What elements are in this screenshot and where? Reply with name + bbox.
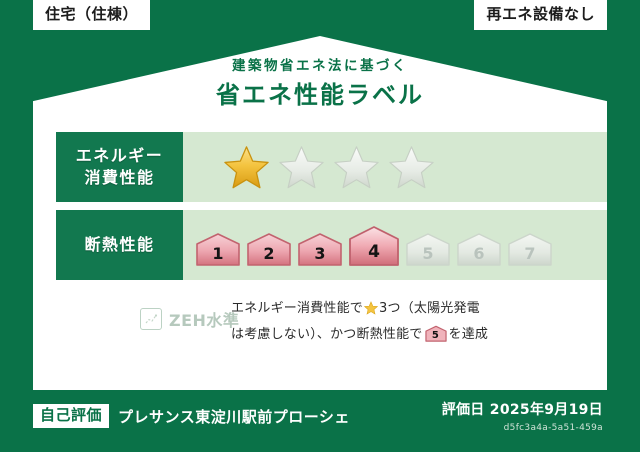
evaluation-date: 評価日 2025年9月19日 [442, 402, 603, 419]
insulation-level-number: 6 [456, 246, 502, 262]
star-icon-empty [388, 145, 435, 190]
insulation-performance-label: 断熱性能 [56, 210, 183, 280]
energy-performance-row: エネルギー 消費性能 [56, 132, 610, 202]
star-icon [364, 301, 378, 324]
star-rating [183, 145, 435, 190]
insulation-level-badge: 2 [246, 232, 292, 266]
desc-part4: を達成 [449, 327, 489, 342]
insulation-level-number: 3 [297, 246, 343, 262]
building-name: プレサンス東淀川駅前プローシェ [118, 406, 350, 427]
achievement-description: エネルギー消費性能で3つ（太陽光発電 は考慮しない）、かつ断熱性能で5を達成 [231, 298, 584, 347]
evaluation-id: d5fc3a4a-5a51-459a [442, 423, 603, 433]
zeh-description-row: ZEH水準 エネルギー消費性能で3つ（太陽光発電 は考慮しない）、かつ断熱性能で… [56, 298, 584, 347]
star-icon-empty [333, 145, 380, 190]
title-subtitle: 建築物省エネ法に基づく [33, 60, 607, 74]
star-icon-empty [278, 145, 325, 190]
label-card: 建築物省エネ法に基づく 省エネ性能ラベル エネルギー 消費性能 [33, 36, 607, 390]
evaluation-date-value: 2025年9月19日 [490, 402, 603, 418]
insulation-level-badge: 7 [507, 232, 553, 266]
evaluation-date-label: 評価日 [442, 402, 485, 418]
zeh-label: ZEH水準 [169, 307, 239, 331]
insulation-level-number: 5 [405, 246, 451, 262]
insulation-level-number: 2 [246, 246, 292, 262]
star-icon-filled [223, 145, 270, 190]
insulation-label-text: 断熱性能 [84, 234, 154, 256]
insulation-level-number: 4 [348, 244, 400, 261]
zeh-standard-indicator: ZEH水準 [56, 298, 231, 331]
energy-label-line2: 消費性能 [84, 167, 154, 189]
chart-line-icon [140, 308, 162, 330]
building-type-tag: 住宅（住棟） [33, 0, 150, 30]
energy-performance-label: 住宅（住棟） 再エネ設備なし 建築物省エネ法に基づく 省エネ性能ラベル エネルギ… [0, 0, 640, 452]
insulation-level-badge-active: 4 [348, 225, 400, 266]
insulation-level-badge: 3 [297, 232, 343, 266]
desc-part2: 3つ（太陽光発電 [379, 301, 480, 316]
insulation-level-scale: 1 2 3 [183, 225, 553, 266]
insulation-level-badge: 1 [195, 232, 241, 266]
title-block: 建築物省エネ法に基づく 省エネ性能ラベル [33, 60, 607, 107]
label-footer: 自己評価 プレサンス東淀川駅前プローシェ 評価日 2025年9月19日 d5fc… [0, 390, 640, 452]
insulation-performance-row: 断熱性能 [56, 210, 610, 280]
page-title: 省エネ性能ラベル [33, 83, 607, 107]
energy-label-line1: エネルギー [76, 145, 164, 167]
insulation-level-badge: 6 [456, 232, 502, 266]
insulation-level-badge: 5 [405, 232, 451, 266]
desc-part3: は考慮しない）、かつ断熱性能で [231, 327, 423, 342]
renewable-equipment-tag: 再エネ設備なし [474, 0, 607, 30]
insulation-level-number: 1 [195, 246, 241, 262]
house-badge-icon-inline: 5 [425, 325, 447, 342]
assessment-type-badge: 自己評価 [33, 404, 109, 428]
desc-badge-number: 5 [425, 331, 447, 341]
energy-performance-label: エネルギー 消費性能 [56, 132, 183, 202]
desc-part1: エネルギー消費性能で [231, 301, 363, 316]
insulation-level-number: 7 [507, 246, 553, 262]
